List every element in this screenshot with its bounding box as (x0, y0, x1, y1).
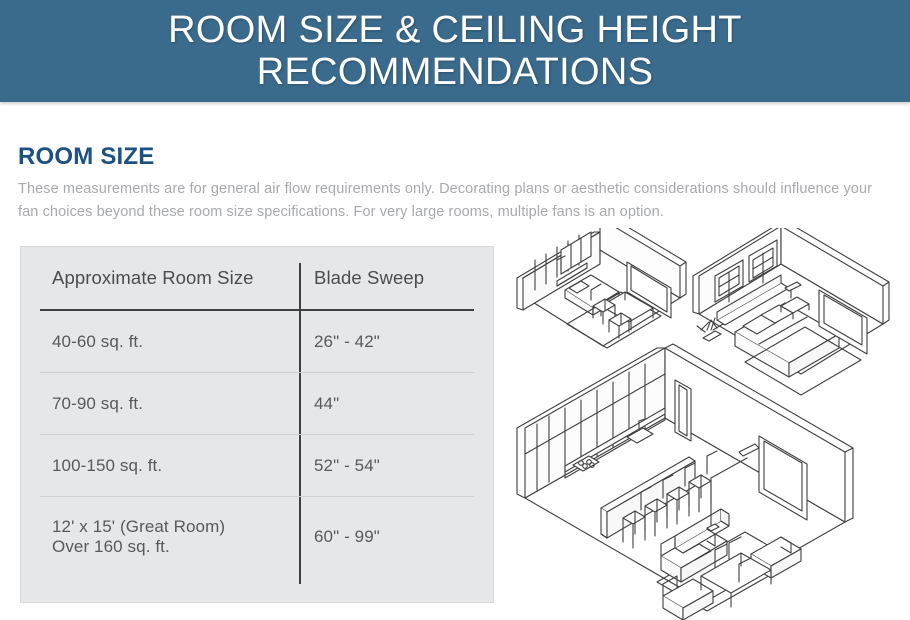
table-header-room-size: Approximate Room Size (40, 267, 299, 289)
section-heading-room-size: ROOM SIZE (18, 143, 154, 171)
cell-blade-sweep: 60" - 99" (299, 527, 474, 547)
table-row: 12' x 15' (Great Room) Over 160 sq. ft. … (40, 497, 474, 577)
table-header-row: Approximate Room Size Blade Sweep (40, 247, 474, 311)
cell-room-size-line1: 40-60 sq. ft. (52, 332, 299, 352)
table-row: 70-90 sq. ft. 44" (40, 373, 474, 435)
room-illustrations-group (505, 228, 910, 620)
section-intro-text: These measurements are for general air f… (18, 178, 896, 224)
cell-blade-sweep: 26" - 42" (299, 332, 474, 352)
page-header-banner: ROOM SIZE & CEILING HEIGHT RECOMMENDATIO… (0, 0, 910, 102)
cell-room-size: 12' x 15' (Great Room) Over 160 sq. ft. (40, 517, 299, 557)
small-room-isometric-illustration (517, 228, 686, 348)
cell-room-size: 40-60 sq. ft. (40, 332, 299, 352)
room-size-table-panel: Approximate Room Size Blade Sweep 40-60 … (20, 246, 494, 603)
great-room-isometric-illustration (517, 344, 853, 620)
cell-room-size: 100-150 sq. ft. (40, 456, 299, 476)
table-header-blade-sweep: Blade Sweep (299, 267, 474, 289)
cell-room-size: 70-90 sq. ft. (40, 394, 299, 414)
cell-room-size-line1: 12' x 15' (Great Room) (52, 517, 299, 537)
cell-blade-sweep: 44" (299, 394, 474, 414)
table-row: 40-60 sq. ft. 26" - 42" (40, 311, 474, 373)
cell-room-size-line1: 100-150 sq. ft. (52, 456, 299, 476)
cell-room-size-line1: 70-90 sq. ft. (52, 394, 299, 414)
room-size-table: Approximate Room Size Blade Sweep 40-60 … (21, 247, 493, 577)
page-title: ROOM SIZE & CEILING HEIGHT RECOMMENDATIO… (0, 9, 910, 93)
cell-room-size-line2: Over 160 sq. ft. (52, 537, 299, 557)
table-row: 100-150 sq. ft. 52" - 54" (40, 435, 474, 497)
cell-blade-sweep: 52" - 54" (299, 456, 474, 476)
bedroom-isometric-illustration (693, 228, 889, 395)
